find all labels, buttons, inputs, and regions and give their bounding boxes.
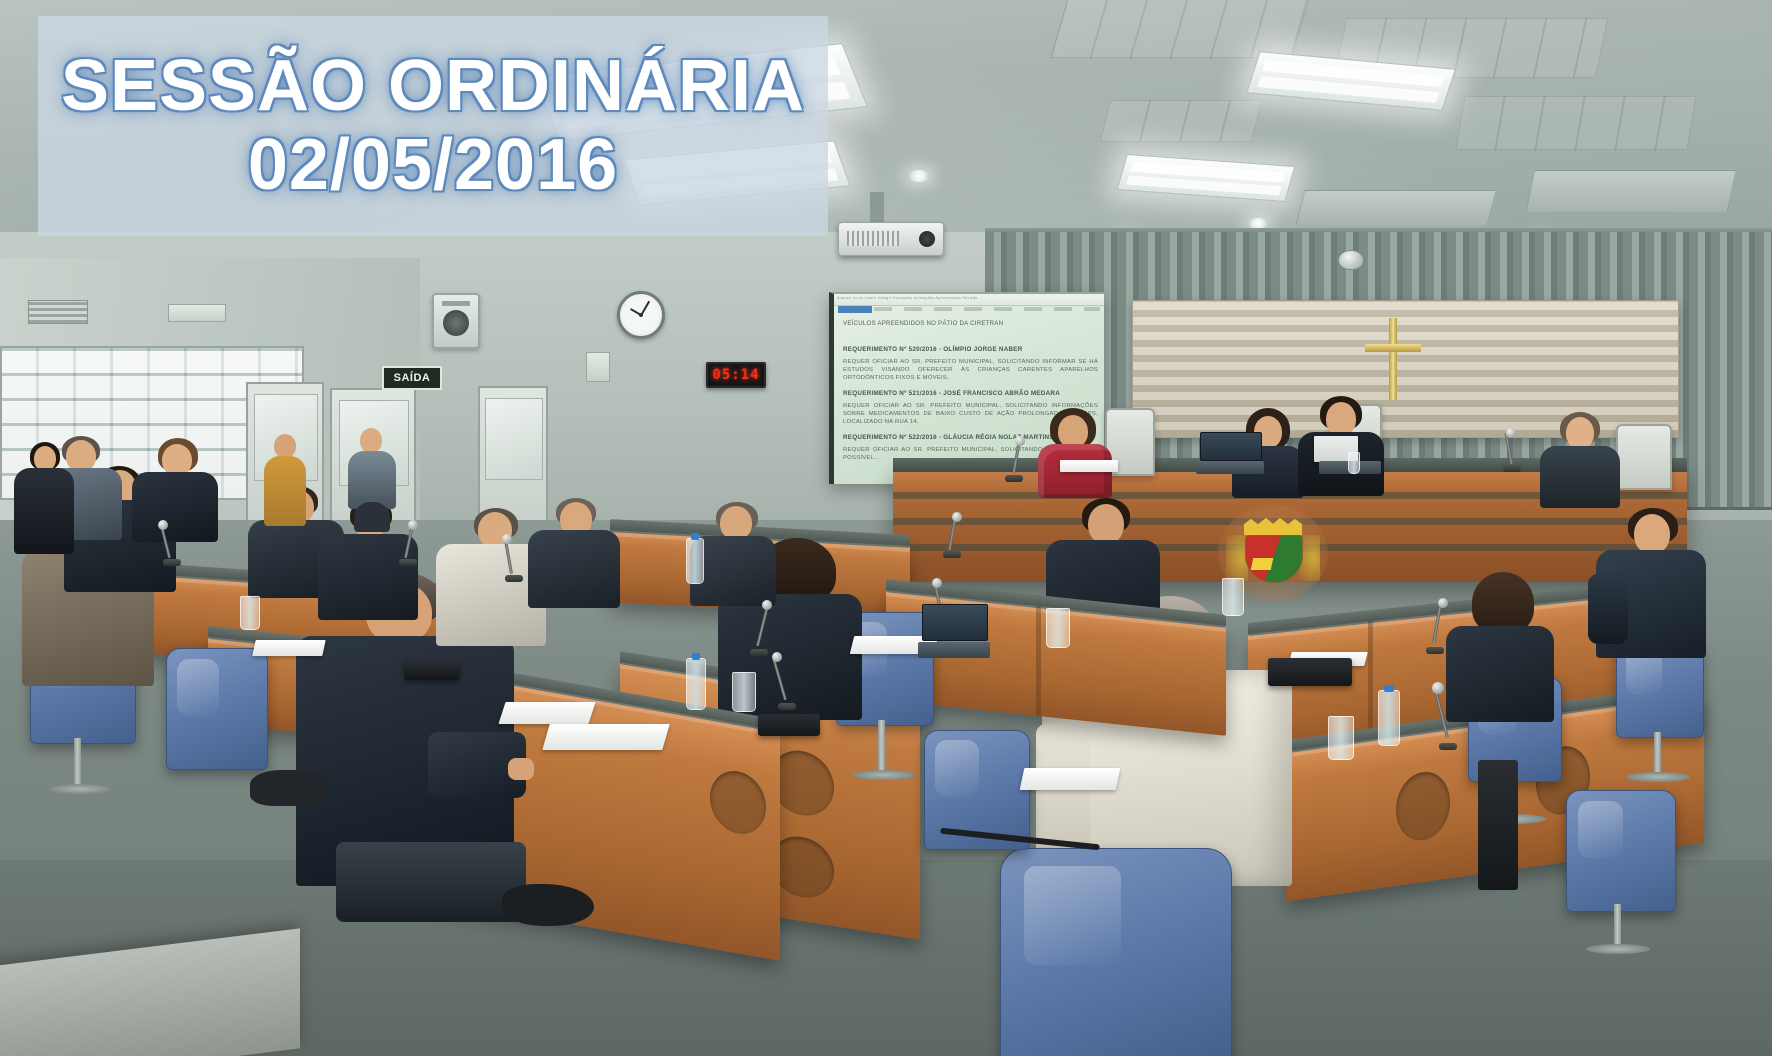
folder [404,660,460,680]
water-bottle [686,658,706,710]
microphone-desk[interactable] [500,534,526,582]
chair-stem [74,738,81,790]
slide-app-tabs: Arquivo Início Inserir Design Transições… [837,296,978,300]
laptop-presiding[interactable] [1200,432,1260,474]
microphone-desk[interactable] [938,512,964,558]
water-bottle [1378,690,1400,746]
speaking-timer-display: 05:14 [706,362,766,388]
documents [252,640,325,656]
chair-base [852,770,916,780]
person-standing-1 [262,434,308,526]
councillor-chair-front[interactable] [1000,848,1232,1056]
person-presiding-4 [1540,412,1620,508]
session-date: 02/05/2016 [248,129,618,202]
ceiling-panel [1296,190,1497,226]
person-councillor-left-8 [528,498,620,608]
folder [758,714,820,736]
equipment-case [1268,658,1352,686]
water-glass [1046,608,1070,648]
microphone-presiding-2[interactable] [1498,428,1526,472]
shoe [250,770,328,806]
documents [1020,768,1121,790]
presiding-chair[interactable] [1616,424,1672,490]
water-bottle [686,538,704,584]
microphone-desk[interactable] [772,652,802,710]
wall-vent [28,300,88,324]
ceiling-grid-panel [1455,96,1697,150]
water-glass [1348,452,1360,474]
wall-fixture [168,304,226,322]
ceiling-panel [1526,170,1737,212]
wall-clock-icon [617,291,665,339]
slide-app-toolbar: Arquivo Início Inserir Design Transições… [834,294,1104,306]
microphone-desk[interactable] [158,520,184,566]
crucifix-icon [1365,318,1421,400]
session-title: SESSÃO ORDINÁRIA [61,50,805,123]
slide-item-1-title: REQUERIMENTO Nº 520/2016 - OLÍMPIO JORGE… [843,346,1098,354]
microphone-desk[interactable] [744,600,774,656]
microphone-desk[interactable] [1420,598,1450,654]
councillor-chair[interactable] [166,648,268,770]
person-presiding-3 [1298,396,1384,496]
cable-duct [1478,760,1518,890]
water-glass [1222,578,1244,616]
councillor-chair[interactable] [1566,790,1676,912]
ceiling-grid-panel [1100,100,1262,142]
person-standing-2 [348,428,396,532]
wall-switch-box[interactable] [586,352,610,382]
wall-speaker-icon [432,293,480,349]
slide-app-ribbon [874,307,1100,311]
session-photo: 05:14 SAÍDA Arquivo Início Inserir Desig… [0,0,1772,1056]
laptop-desk[interactable] [922,604,986,658]
exit-sign-label: SAÍDA [394,372,431,384]
recessed-downlight [908,170,930,182]
microphone-desk[interactable] [1432,682,1466,750]
projector-mount [870,192,884,226]
documents-presiding [1060,460,1118,472]
person-councillor-right-1 [1596,508,1706,658]
shoe [502,884,594,926]
ceiling-projector-icon [838,222,944,256]
chair-base [1586,944,1650,954]
microphone-desk[interactable] [394,520,420,566]
slide-item-2-title: REQUERIMENTO Nº 521/2016 - JOSÉ FRANCISC… [843,390,1098,398]
slide-item-1-body: REQUER OFICIAR AO SR. PREFEITO MUNICIPAL… [843,358,1098,382]
slide-app-accent [838,306,872,313]
chair-base [1626,772,1690,782]
title-banner: SESSÃO ORDINÁRIA 02/05/2016 [38,16,828,236]
ceiling-grid-panel [1051,0,1312,58]
microphone-presiding[interactable] [1000,436,1028,482]
documents [542,724,669,750]
documents [498,702,595,724]
timer-value: 05:14 [712,367,759,383]
water-glass [1328,716,1354,760]
slide-heading: VEÍCULOS APREENDIDOS NO PÁTIO DA CIRETRA… [843,320,1098,328]
exit-sign: SAÍDA [382,366,442,390]
water-glass [732,672,756,712]
chair-base [48,784,112,794]
water-glass [240,596,260,630]
person-presiding-1 [1036,408,1114,494]
person-standing-3 [12,442,76,554]
security-camera-icon [1338,250,1364,270]
